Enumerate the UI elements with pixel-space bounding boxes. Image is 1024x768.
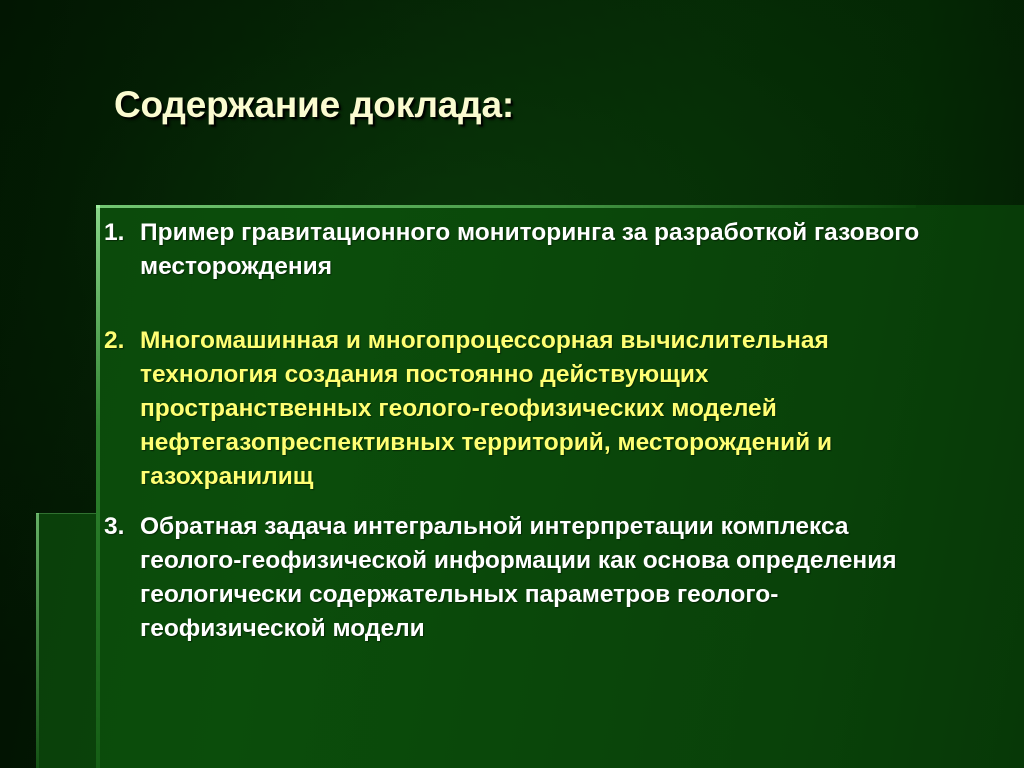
lower-accent-panel-edge xyxy=(36,513,39,768)
list-item-number: 2. xyxy=(100,324,140,358)
list-item-number: 3. xyxy=(100,510,140,544)
list-item-text: Пример гравитационного мониторинга за ра… xyxy=(140,216,930,284)
slide-title: Содержание доклада: xyxy=(114,84,514,126)
list-item: 1. Пример гравитационного мониторинга за… xyxy=(100,216,980,284)
agenda-list: 1. Пример гравитационного мониторинга за… xyxy=(100,216,980,646)
list-item-text: Многомашинная и многопроцессорная вычисл… xyxy=(140,324,930,494)
list-item: 2. Многомашинная и многопроцессорная выч… xyxy=(100,324,980,494)
content-panel-top-highlight xyxy=(96,205,916,208)
list-item-text: Обратная задача интегральной интерпретац… xyxy=(140,510,930,646)
list-item: 3. Обратная задача интегральной интерпре… xyxy=(100,510,980,646)
presentation-slide: Содержание доклада: 1. Пример гравитацио… xyxy=(0,0,1024,768)
list-item-number: 1. xyxy=(100,216,140,250)
